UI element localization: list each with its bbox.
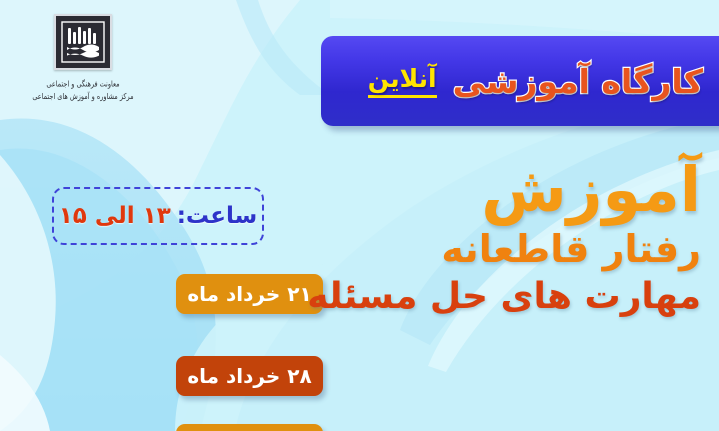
university-seal-icon	[54, 14, 112, 70]
headline-stack: آموزش رفتار قاطعانه مهارت های حل مسئله	[329, 160, 709, 320]
date-badge	[176, 424, 323, 431]
logo-subtitle-line-2: مرکز مشاوره و آموزش های اجتماعی	[18, 91, 148, 103]
headline-topic-2: مهارت های حل مسئله	[329, 277, 701, 317]
university-logo: معاونت فرهنگی و اجتماعی مرکز مشاوره و آم…	[18, 10, 148, 122]
time-label: ساعت:	[177, 203, 258, 229]
logo-subtitle-line-1: معاونت فرهنگی و اجتماعی	[18, 79, 148, 91]
date-badge: ۲۸ خرداد ماه	[176, 356, 323, 396]
time-value: ۱۳ الی ۱۵	[59, 203, 171, 229]
logo-subtitle: معاونت فرهنگی و اجتماعی مرکز مشاوره و آم…	[18, 79, 148, 103]
banner-online-badge: آنلاین	[368, 64, 437, 98]
workshop-poster: معاونت فرهنگی و اجتماعی مرکز مشاوره و آم…	[0, 0, 719, 431]
headline-main: آموزش	[329, 160, 701, 221]
workshop-banner: کارگاه آموزشی آنلاین	[321, 36, 719, 126]
time-box: ساعت: ۱۳ الی ۱۵	[52, 187, 264, 245]
headline-topic-1: رفتار قاطعانه	[329, 229, 701, 271]
banner-title: کارگاه آموزشی	[453, 62, 703, 101]
date-badge: ۲۱ خرداد ماه	[176, 274, 323, 314]
